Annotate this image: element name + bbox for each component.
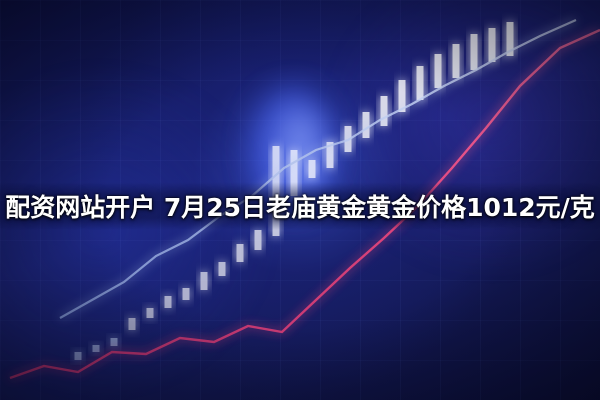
headline-text: 配资网站开户 7月25日老庙黄金黄金价格1012元/克 xyxy=(5,188,595,224)
headline-banner: 配资网站开户 7月25日老庙黄金黄金价格1012元/克 xyxy=(0,186,600,226)
screenshot-root: 配资网站开户 7月25日老庙黄金黄金价格1012元/克 xyxy=(0,0,600,400)
